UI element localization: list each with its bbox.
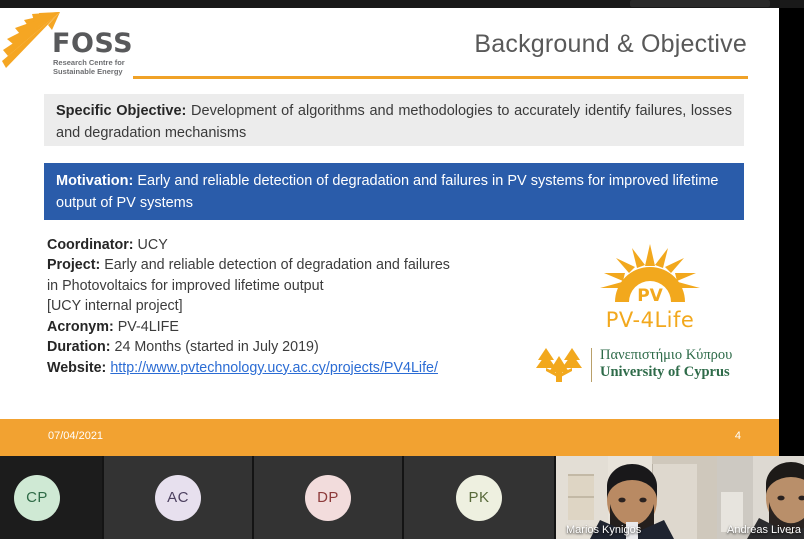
foss-subtitle: Research Centre for Sustainable Energy — [53, 58, 125, 77]
detail-row: Duration: 24 Months (started in July 201… — [47, 337, 547, 357]
participant-filmstrip: CP AC DP PK — [0, 456, 804, 539]
website-link[interactable]: http://www.pvtechnology.ucy.ac.cy/projec… — [110, 360, 438, 376]
avatar: CP — [14, 475, 60, 521]
ucy-logo: Πανεπιστήμιο Κύπρου University of Cyprus — [534, 346, 749, 386]
participant-name: Andreas Livera — [727, 524, 801, 536]
motivation-text: Motivation: Early and reliable detection… — [56, 170, 732, 215]
project-details-list: Coordinator: UCY Project: Early and reli… — [47, 235, 547, 378]
participant-name: Marios Kynigos — [566, 524, 641, 536]
ucy-name-greek: Πανεπιστήμιο Κύπρου — [600, 347, 732, 364]
pv4life-wordmark: PV-4Life — [575, 308, 725, 332]
cyprus-tree-icon — [534, 346, 586, 384]
participant-tile-cp[interactable]: CP — [0, 456, 104, 539]
specific-objective-box: Specific Objective: Development of algor… — [44, 94, 744, 146]
detail-value: PV-4LIFE — [114, 319, 179, 335]
detail-row: [UCY internal project] — [47, 296, 547, 316]
detail-row: Acronym: PV-4LIFE — [47, 317, 547, 337]
pv4life-logo: PV PV-4Life — [575, 240, 725, 335]
slide-footer: 07/04/2021 4 — [0, 419, 779, 456]
motivation-body: Early and reliable detection of degradat… — [56, 173, 718, 211]
foss-logo: FOSS Research Centre for Sustainable Ene… — [2, 10, 137, 82]
specific-objective-label: Specific Objective: — [56, 103, 186, 119]
avatar-initials: PK — [468, 489, 489, 506]
avatar: DP — [305, 475, 351, 521]
participant-tile-ac[interactable]: AC — [104, 456, 254, 539]
avatar-initials: AC — [167, 489, 189, 506]
avatar-initials: CP — [26, 489, 48, 506]
foss-wordmark: FOSS — [52, 30, 133, 57]
foss-subtitle-line1: Research Centre for — [53, 58, 125, 67]
detail-row: in Photovoltaics for improved lifetime o… — [47, 276, 547, 296]
slide-title: Background & Objective — [474, 30, 747, 59]
detail-row: Coordinator: UCY — [47, 235, 547, 255]
detail-label: Acronym: — [47, 319, 114, 335]
detail-value: Early and reliable detection of degradat… — [100, 257, 450, 273]
participant-tile-pk[interactable]: PK — [404, 456, 556, 539]
title-underline-rule — [133, 76, 748, 79]
detail-label: Coordinator: — [47, 237, 134, 253]
detail-row: Project: Early and reliable detection of… — [47, 255, 547, 275]
detail-value: [UCY internal project] — [47, 298, 183, 314]
participant-tile-dp[interactable]: DP — [254, 456, 404, 539]
avatar: AC — [155, 475, 201, 521]
slide-page-number: 4 — [735, 430, 741, 442]
meeting-window: FOSS Research Centre for Sustainable Ene… — [0, 0, 804, 539]
detail-label: Project: — [47, 257, 100, 273]
svg-text:PV: PV — [637, 286, 663, 306]
slide-date: 07/04/2021 — [48, 430, 103, 442]
topbar-pill — [630, 0, 770, 7]
avatar: PK — [456, 475, 502, 521]
website-label: Website: — [47, 360, 106, 376]
window-topbar — [0, 0, 804, 8]
slide-header: FOSS Research Centre for Sustainable Ene… — [0, 8, 779, 86]
detail-row-website: Website: http://www.pvtechnology.ucy.ac.… — [47, 358, 547, 378]
motivation-label: Motivation: — [56, 173, 133, 189]
foss-subtitle-line2: Sustainable Energy — [53, 67, 125, 76]
participant-tile-marios-kynigos[interactable]: Marios Kynigos — [556, 456, 717, 539]
presentation-slide: FOSS Research Centre for Sustainable Ene… — [0, 8, 779, 456]
participant-tile-andreas-livera[interactable]: Andreas Livera — [717, 456, 804, 539]
detail-value: 24 Months (started in July 2019) — [111, 339, 319, 355]
avatar-initials: DP — [317, 489, 339, 506]
ucy-logo-divider — [591, 348, 592, 382]
motivation-box: Motivation: Early and reliable detection… — [44, 163, 744, 220]
pv-sun-icon: PV — [575, 240, 725, 310]
detail-label: Duration: — [47, 339, 111, 355]
ucy-name-english: University of Cyprus — [600, 364, 730, 381]
specific-objective-text: Specific Objective: Development of algor… — [56, 100, 732, 145]
detail-value: in Photovoltaics for improved lifetime o… — [47, 278, 324, 294]
detail-value: UCY — [134, 237, 168, 253]
